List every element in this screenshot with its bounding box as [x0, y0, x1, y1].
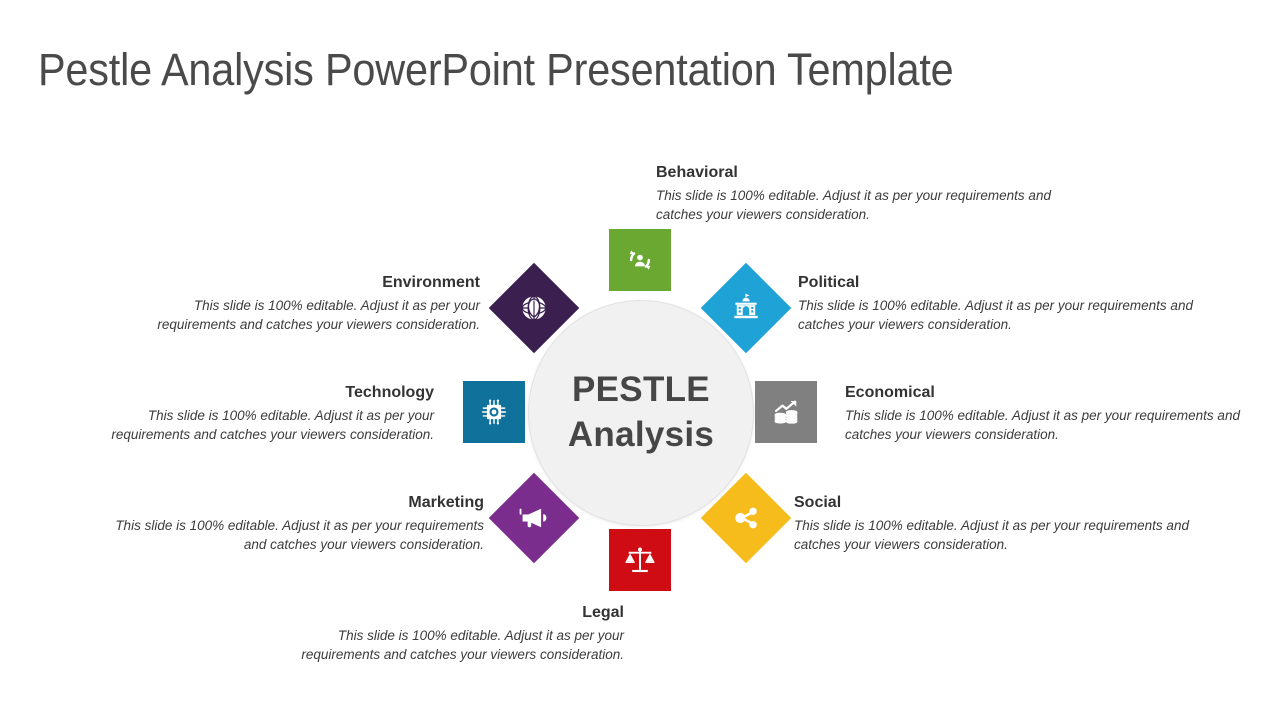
category-description-economical: This slide is 100% editable. Adjust it a…	[845, 406, 1245, 445]
category-title-economical: Economical	[845, 382, 1245, 404]
text-block-environment: Environment This slide is 100% editable.…	[120, 272, 480, 335]
text-block-marketing: Marketing This slide is 100% editable. A…	[110, 492, 484, 555]
category-title-marketing: Marketing	[110, 492, 484, 514]
text-block-social: Social This slide is 100% editable. Adju…	[794, 492, 1194, 555]
category-title-legal: Legal	[260, 602, 624, 624]
text-block-behavioral: Behavioral This slide is 100% editable. …	[656, 162, 1056, 225]
text-block-economical: Economical This slide is 100% editable. …	[845, 382, 1245, 445]
category-title-behavioral: Behavioral	[656, 162, 1056, 184]
category-description-political: This slide is 100% editable. Adjust it a…	[798, 296, 1198, 335]
center-circle: PESTLE Analysis	[528, 300, 754, 526]
government-building-icon	[729, 291, 763, 325]
coins-growth-arrow-icon	[769, 395, 803, 429]
category-description-social: This slide is 100% editable. Adjust it a…	[794, 516, 1194, 555]
text-block-legal: Legal This slide is 100% editable. Adjus…	[260, 602, 624, 665]
center-label-line2: Analysis	[568, 413, 714, 458]
microchip-cpu-icon	[477, 395, 511, 429]
category-description-marketing: This slide is 100% editable. Adjust it a…	[110, 516, 484, 555]
badge-legal[interactable]	[609, 529, 671, 591]
globe-leaf-icon	[517, 291, 551, 325]
badge-economical[interactable]	[755, 381, 817, 443]
category-description-technology: This slide is 100% editable. Adjust it a…	[100, 406, 434, 445]
category-description-legal: This slide is 100% editable. Adjust it a…	[260, 626, 624, 665]
scales-of-justice-icon	[623, 543, 657, 577]
center-label-line1: PESTLE	[572, 368, 710, 413]
category-description-environment: This slide is 100% editable. Adjust it a…	[120, 296, 480, 335]
pestle-diagram: PESTLE Analysis	[0, 0, 1280, 720]
megaphone-icon	[517, 501, 551, 535]
category-title-environment: Environment	[120, 272, 480, 294]
text-block-technology: Technology This slide is 100% editable. …	[100, 382, 434, 445]
badge-behavioral[interactable]	[609, 229, 671, 291]
category-description-behavioral: This slide is 100% editable. Adjust it a…	[656, 186, 1056, 225]
share-network-icon	[729, 501, 763, 535]
category-title-social: Social	[794, 492, 1194, 514]
category-title-technology: Technology	[100, 382, 434, 404]
person-refresh-icon	[623, 243, 657, 277]
category-title-political: Political	[798, 272, 1198, 294]
text-block-political: Political This slide is 100% editable. A…	[798, 272, 1198, 335]
badge-technology[interactable]	[463, 381, 525, 443]
